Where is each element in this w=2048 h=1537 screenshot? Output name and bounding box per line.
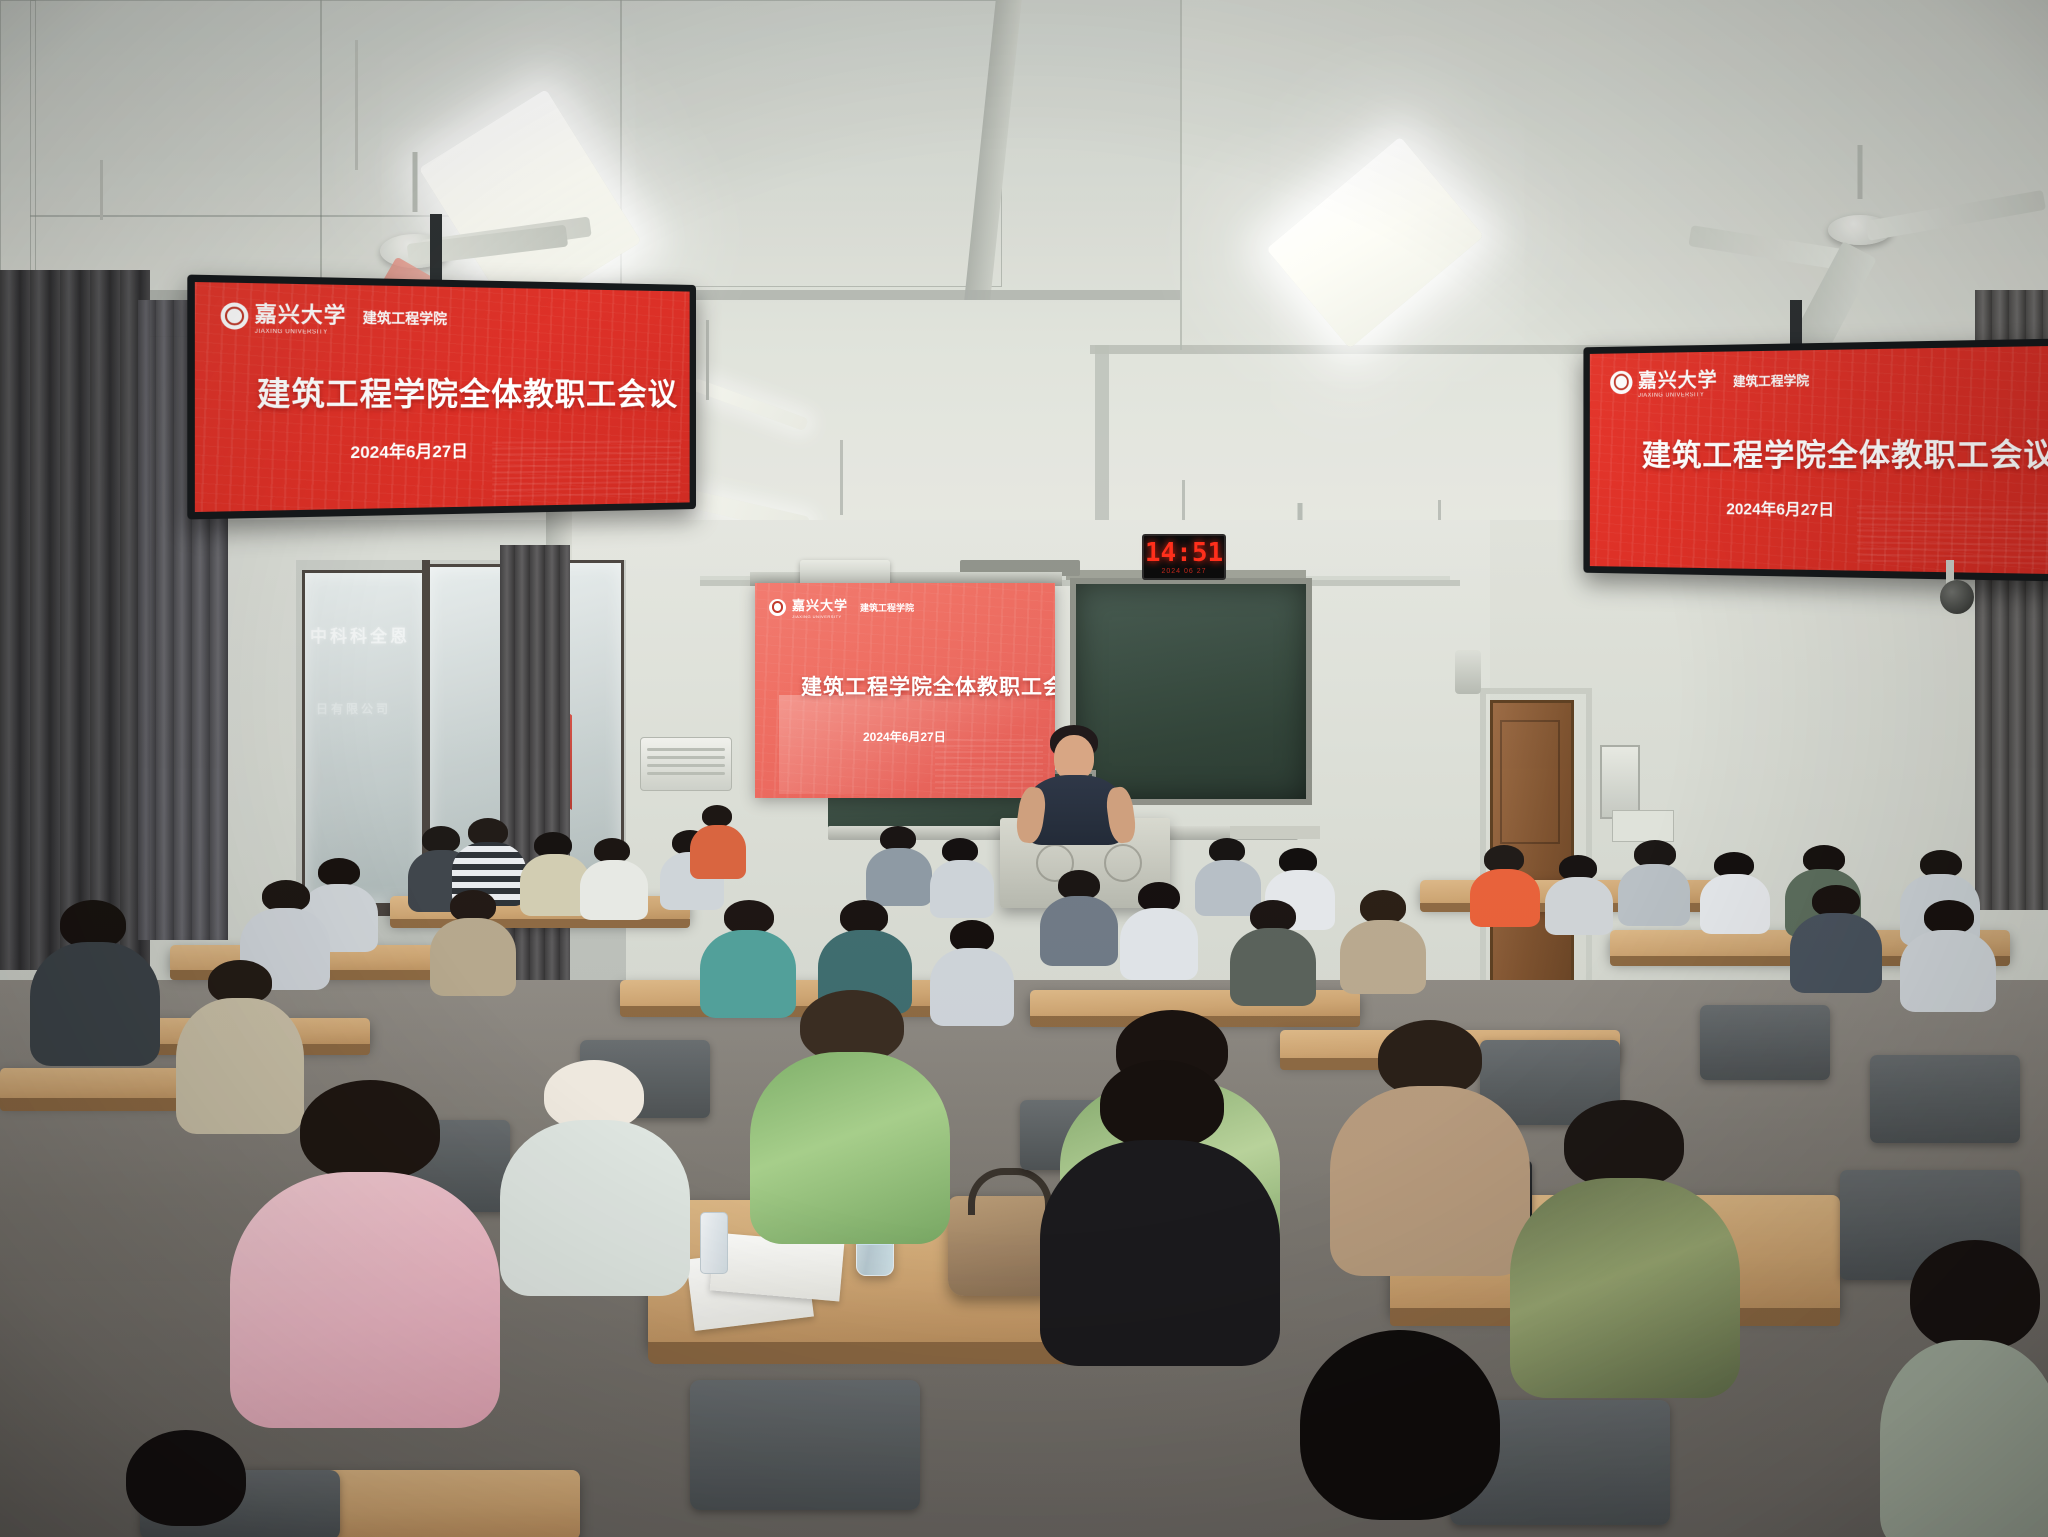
wall-speaker: [1455, 650, 1481, 694]
attendee: [230, 1080, 500, 1420]
university-name-cn: 嘉兴大学: [792, 595, 848, 614]
university-name-cn: 嘉兴大学: [255, 298, 347, 330]
attendee: [930, 838, 994, 916]
attendee: [1790, 885, 1882, 991]
curtain-left: [0, 270, 150, 970]
university-name-cn: 嘉兴大学: [1638, 364, 1718, 393]
attendee: [1230, 900, 1316, 1004]
electrical-box: [1600, 745, 1640, 819]
attendee: [1040, 870, 1118, 964]
department-name: 建筑工程学院: [860, 601, 914, 614]
light-hanger: [840, 440, 843, 515]
attendee: [580, 838, 648, 918]
attendee: [1880, 1240, 2048, 1537]
security-camera-icon: [1940, 580, 1974, 614]
attendee-standing: [690, 805, 746, 875]
university-name-en: JIAXING UNIVERSITY: [255, 329, 347, 336]
attendee: [1330, 1020, 1530, 1270]
attendee: [866, 826, 932, 904]
attendee: [430, 890, 516, 994]
slide-right: 嘉兴大学 JIAXING UNIVERSITY 建筑工程学院 建筑工程学院全体教…: [1590, 346, 2048, 574]
attendee: [1120, 882, 1198, 978]
window-reflection-text-1: 中科科全恩: [310, 622, 410, 647]
light-hanger: [706, 320, 709, 400]
slide-left: 嘉兴大学 JIAXING UNIVERSITY 建筑工程学院 建筑工程学院全体教…: [195, 282, 690, 512]
attendee: [750, 990, 950, 1240]
air-conditioner: [640, 737, 732, 791]
department-name: 建筑工程学院: [363, 308, 447, 329]
slide-city-skyline: [492, 439, 680, 497]
chair: [1870, 1055, 2020, 1143]
attendee: [1340, 890, 1426, 990]
tv-mount-left: [430, 214, 442, 284]
presenter: [1020, 725, 1130, 835]
chair: [690, 1380, 920, 1510]
attendee: [1040, 1060, 1280, 1360]
window-reflection-text-2: 日有限公司: [316, 700, 391, 717]
digital-clock: 14:51 2024 06 27: [1142, 534, 1226, 580]
door-panel: [1500, 720, 1560, 844]
university-name-en: JIAXING UNIVERSITY: [1638, 392, 1718, 399]
slide-center: 嘉兴大学 JIAXING UNIVERSITY 建筑工程学院 建筑工程学院全体教…: [755, 583, 1055, 798]
attendee: [1618, 840, 1690, 924]
university-seal-icon: [769, 599, 786, 616]
slide-date: 2024年6月27日: [1726, 495, 1834, 520]
light-hanger: [355, 40, 358, 170]
department-name: 建筑工程学院: [1733, 370, 1809, 390]
classroom-photo: 中科科全恩 日有限公司 嘉兴大学 JIAXING UNIVERSITY 建筑工程…: [0, 0, 2048, 1537]
attendee: [1900, 900, 1996, 1010]
left-led-display[interactable]: 嘉兴大学 JIAXING UNIVERSITY 建筑工程学院 建筑工程学院全体教…: [187, 275, 696, 520]
slide-main-title: 建筑工程学院全体教职工会议: [257, 368, 678, 416]
attendee: [1700, 852, 1770, 932]
clock-time: 14:51: [1145, 540, 1223, 566]
attendee: [100, 1430, 280, 1537]
sanitizer-bottle: [700, 1212, 728, 1274]
university-seal-icon: [1610, 370, 1632, 394]
center-projection-screen[interactable]: 嘉兴大学 JIAXING UNIVERSITY 建筑工程学院 建筑工程学院全体教…: [755, 583, 1055, 798]
slide-main-title: 建筑工程学院全体教职工会议: [1642, 429, 2048, 476]
university-seal-icon: [221, 302, 249, 329]
attendee: [1250, 1330, 1550, 1537]
slide-date: 2024年6月27日: [350, 437, 468, 463]
attendee: [30, 900, 160, 1060]
wall-socket-panel: [1612, 810, 1674, 842]
clock-date: 2024 06 27: [1161, 568, 1206, 575]
right-led-display[interactable]: 嘉兴大学 JIAXING UNIVERSITY 建筑工程学院 建筑工程学院全体教…: [1583, 338, 2048, 581]
chair: [1700, 1005, 1830, 1080]
attendee: [500, 1060, 690, 1290]
light-hanger: [100, 160, 103, 220]
slide-city-skyline: [1857, 504, 2048, 565]
attendee: [1470, 845, 1540, 925]
university-name-en: JIAXING UNIVERSITY: [792, 614, 848, 619]
attendee: [1545, 855, 1613, 933]
